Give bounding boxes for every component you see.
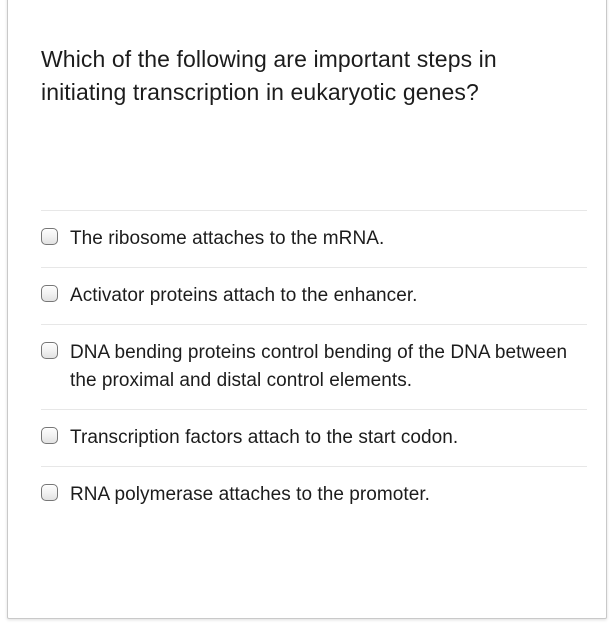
option-row-1[interactable]: The ribosome attaches to the mRNA. [41,210,587,267]
answer-options-list: The ribosome attaches to the mRNA. Activ… [41,210,587,523]
option-row-3[interactable]: DNA bending proteins control bending of … [41,324,587,409]
option-label-3: DNA bending proteins control bending of … [70,339,587,395]
question-card: Which of the following are important ste… [7,0,607,619]
option-label-5: RNA polymerase attaches to the promoter. [70,481,587,509]
option-row-5[interactable]: RNA polymerase attaches to the promoter. [41,466,587,523]
option-row-4[interactable]: Transcription factors attach to the star… [41,409,587,466]
option-label-2: Activator proteins attach to the enhance… [70,282,587,310]
question-prompt: Which of the following are important ste… [41,43,571,109]
checkbox-unchecked-icon[interactable] [41,484,58,501]
option-label-1: The ribosome attaches to the mRNA. [70,225,587,253]
checkbox-unchecked-icon[interactable] [41,427,58,444]
checkbox-unchecked-icon[interactable] [41,285,58,302]
checkbox-unchecked-icon[interactable] [41,228,58,245]
option-row-2[interactable]: Activator proteins attach to the enhance… [41,267,587,324]
checkbox-unchecked-icon[interactable] [41,342,58,359]
option-label-4: Transcription factors attach to the star… [70,424,587,452]
